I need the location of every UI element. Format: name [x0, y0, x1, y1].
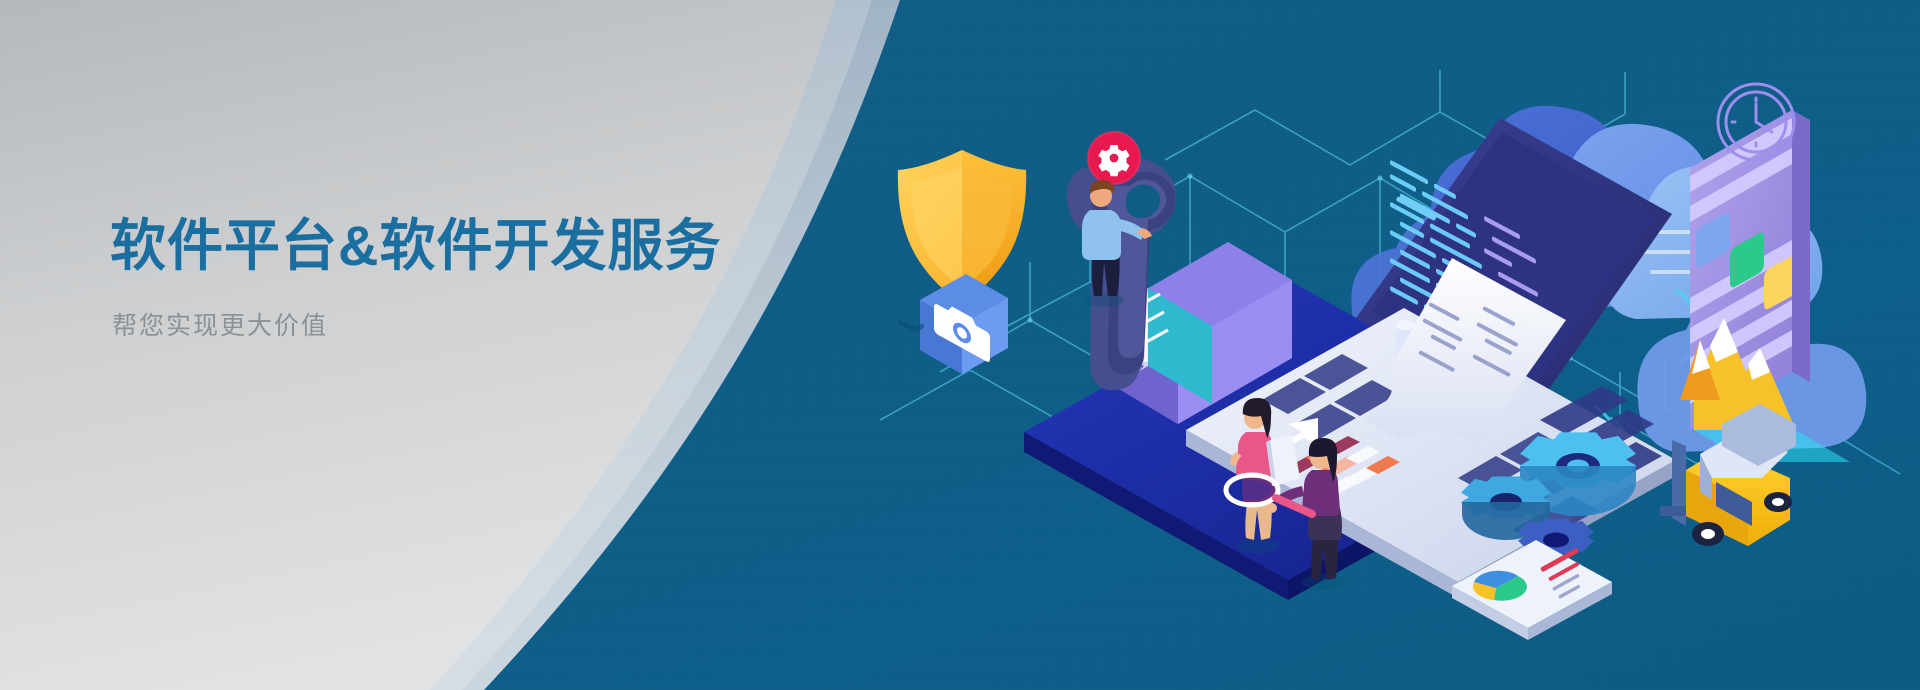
- curved-panel-overlay: [0, 0, 1920, 690]
- hero-copy: 软件平台&软件开发服务 帮您实现更大价值: [110, 212, 870, 343]
- page-title: 软件平台&软件开发服务: [110, 212, 870, 280]
- page-subtitle: 帮您实现更大价值: [112, 310, 870, 343]
- hero-banner: 软件平台&软件开发服务 帮您实现更大价值: [0, 0, 1920, 690]
